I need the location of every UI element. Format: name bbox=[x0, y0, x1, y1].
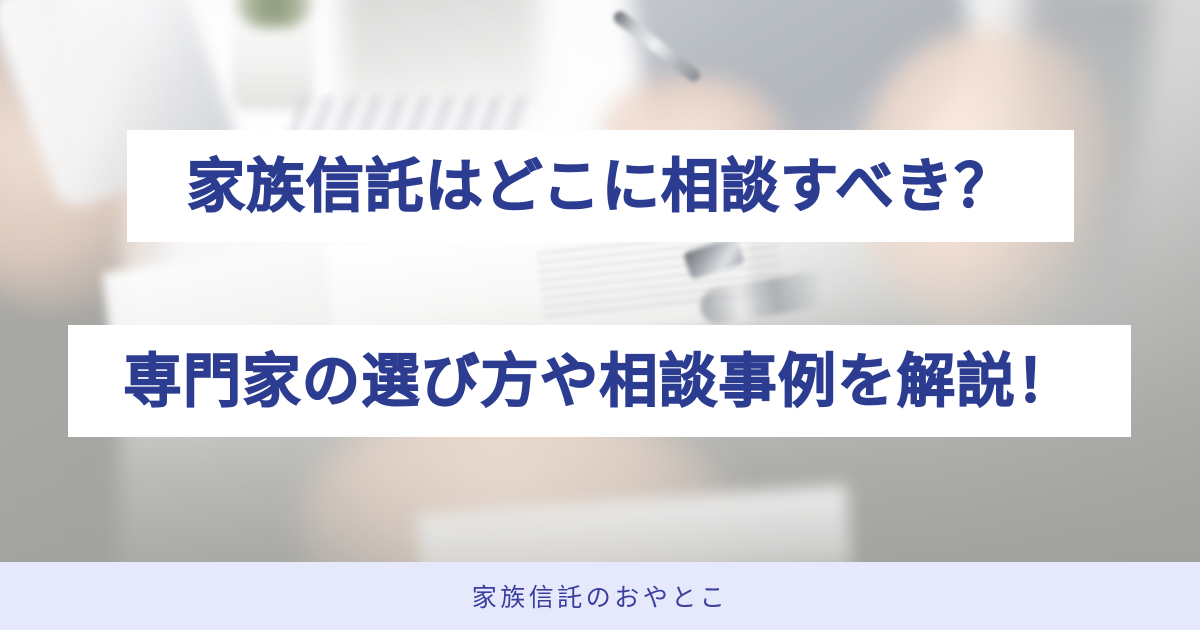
title-line1-text: 家族信託はどこに相談すべき？ bbox=[187, 157, 1014, 215]
title-line2-box: 専門家の選び方や相談事例を解説！ bbox=[68, 325, 1131, 437]
brand-name: 家族信託のおやとこ bbox=[472, 578, 729, 614]
photo-right-vignette bbox=[960, 0, 1200, 630]
og-card: 家族信託はどこに相談すべき？ 専門家の選び方や相談事例を解説！ 家族信託のおやと… bbox=[0, 0, 1200, 630]
title-line1-box: 家族信託はどこに相談すべき？ bbox=[127, 130, 1074, 242]
background-photo bbox=[0, 0, 1200, 630]
title-line2-text: 専門家の選び方や相談事例を解説！ bbox=[123, 352, 1075, 410]
footer-brand-band: 家族信託のおやとこ bbox=[0, 562, 1200, 630]
